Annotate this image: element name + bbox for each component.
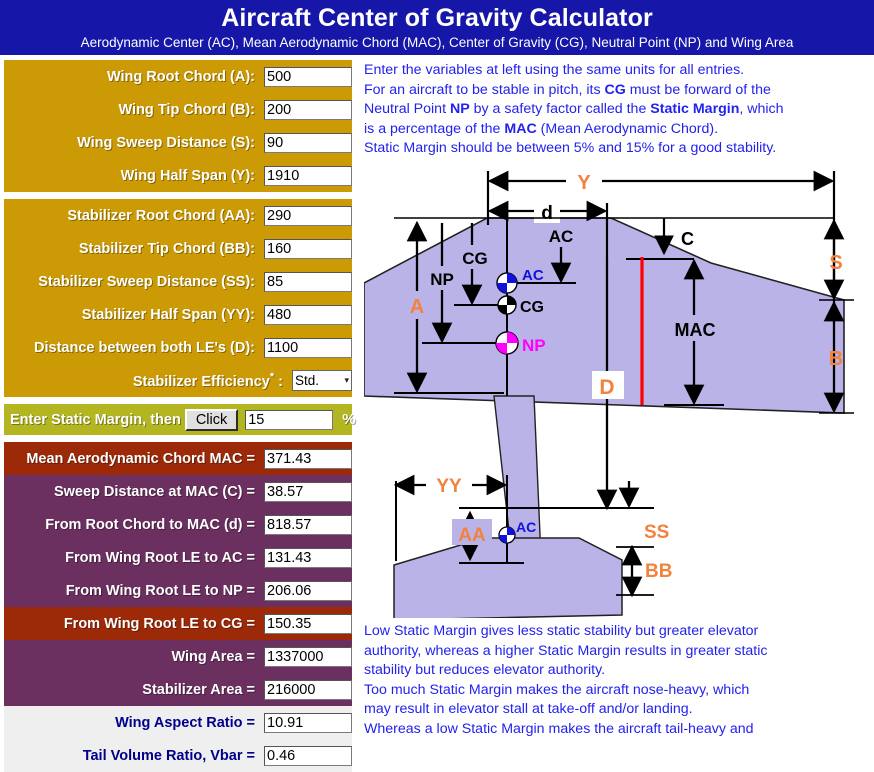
label-mac: Mean Aerodynamic Chord MAC = xyxy=(4,451,264,467)
results-group-purple-1: Sweep Distance at MAC (C) = From Root Ch… xyxy=(4,475,352,607)
bottom-line-6: Whereas a low Static Margin makes the ai… xyxy=(364,720,870,740)
input-row-wing-root-chord: Wing Root Chord (A): xyxy=(4,60,352,93)
input-row-stabilizer-efficiency: Stabilizer Efficiency* : Std. ▾ xyxy=(4,364,352,397)
calculator-page: Aircraft Center of Gravity Calculator Ae… xyxy=(0,0,874,768)
static-margin-section: Enter Static Margin, then Click % xyxy=(4,404,352,435)
result-row-aspect-ratio: Wing Aspect Ratio = xyxy=(4,706,352,739)
label-stab-half-span: Stabilizer Half Span (YY): xyxy=(4,307,264,323)
label-stab-tip-chord: Stabilizer Tip Chord (BB): xyxy=(4,241,264,257)
output-le-to-ac[interactable] xyxy=(264,548,352,568)
result-row-stabilizer-area: Stabilizer Area = xyxy=(4,673,352,706)
input-row-stab-root-chord: Stabilizer Root Chord (AA): xyxy=(4,199,352,232)
input-row-wing-sweep-distance: Wing Sweep Distance (S): xyxy=(4,126,352,159)
bottom-line-5: may result in elevator stall at take-off… xyxy=(364,700,870,720)
intro-line-3-static-margin: Static Margin xyxy=(650,101,739,117)
input-row-distance-between-les: Distance between both LE's (D): xyxy=(4,331,352,364)
input-wing-half-span[interactable] xyxy=(264,166,352,186)
label-le-to-np: From Wing Root LE to NP = xyxy=(4,583,264,599)
body-wrap: Wing Root Chord (A): Wing Tip Chord (B):… xyxy=(0,55,874,772)
output-mac[interactable] xyxy=(264,449,352,469)
bottom-line-4: Too much Static Margin makes the aircraf… xyxy=(364,681,870,701)
marker-cg-wing: CG xyxy=(498,296,544,316)
result-row-wing-area: Wing Area = xyxy=(4,640,352,673)
input-row-stab-sweep-distance: Stabilizer Sweep Distance (SS): xyxy=(4,265,352,298)
diagram-label-S: S xyxy=(829,252,842,274)
intro-line-3: Neutral Point NP by a safety factor call… xyxy=(364,100,870,120)
diagram-label-NP-dim: NP xyxy=(430,270,454,289)
intro-line-4a: is a percentage of the xyxy=(364,121,504,137)
intro-line-2c: must be forward of the xyxy=(626,82,771,98)
label-sweep-at-mac: Sweep Distance at MAC (C) = xyxy=(4,484,264,500)
intro-line-5: Static Margin should be between 5% and 1… xyxy=(364,139,870,159)
bottom-paragraph: Low Static Margin gives less static stab… xyxy=(364,618,870,740)
input-row-wing-half-span: Wing Half Span (Y): xyxy=(4,159,352,192)
aircraft-diagram: Y d C A NP xyxy=(364,163,860,618)
input-stab-root-chord[interactable] xyxy=(264,206,352,226)
page-title: Aircraft Center of Gravity Calculator xyxy=(0,0,874,34)
label-le-to-cg: From Wing Root LE to CG = xyxy=(4,616,264,632)
input-row-stab-half-span: Stabilizer Half Span (YY): xyxy=(4,298,352,331)
result-row-sweep-at-mac: Sweep Distance at MAC (C) = xyxy=(4,475,352,508)
label-stabilizer-efficiency-text: Stabilizer Efficiency xyxy=(133,374,270,390)
intro-line-2-cg: CG xyxy=(605,82,626,98)
output-le-to-np[interactable] xyxy=(264,581,352,601)
page-subtitle: Aerodynamic Center (AC), Mean Aerodynami… xyxy=(0,34,874,55)
input-static-margin[interactable] xyxy=(245,410,333,430)
diagram-label-AC-dim: AC xyxy=(549,227,574,246)
label-stab-root-chord: Stabilizer Root Chord (AA): xyxy=(4,208,264,224)
static-margin-row: Enter Static Margin, then Click % xyxy=(4,404,352,435)
static-margin-unit: % xyxy=(333,411,355,428)
output-le-to-cg[interactable] xyxy=(264,614,352,634)
diagram-label-CG-dim: CG xyxy=(462,249,488,268)
diagram-label-A: A xyxy=(410,296,424,318)
results-group-plain: Wing Aspect Ratio = Tail Volume Ratio, V… xyxy=(4,706,352,772)
result-row-tail-volume-ratio: Tail Volume Ratio, Vbar = xyxy=(4,739,352,772)
diagram-label-C: C xyxy=(681,229,694,249)
output-wing-area[interactable] xyxy=(264,647,352,667)
wing-inputs-section: Wing Root Chord (A): Wing Tip Chord (B):… xyxy=(4,60,352,192)
label-colon: : xyxy=(278,374,283,390)
bottom-line-2: authority, whereas a higher Static Margi… xyxy=(364,642,870,662)
input-wing-sweep-distance[interactable] xyxy=(264,133,352,153)
label-aspect-ratio: Wing Aspect Ratio = xyxy=(4,715,264,731)
intro-line-4c: (Mean Aerodynamic Chord). xyxy=(537,121,718,137)
intro-line-3a: Neutral Point xyxy=(364,101,450,117)
diagram-label-B: B xyxy=(829,348,843,370)
right-column: Enter the variables at left using the sa… xyxy=(356,55,874,740)
label-stabilizer-area: Stabilizer Area = xyxy=(4,682,264,698)
calculate-button[interactable]: Click xyxy=(185,409,238,431)
label-wing-sweep-distance: Wing Sweep Distance (S): xyxy=(4,135,264,151)
marker-label-np: NP xyxy=(522,336,546,355)
label-tail-volume-ratio: Tail Volume Ratio, Vbar = xyxy=(4,748,264,764)
label-wing-tip-chord: Wing Tip Chord (B): xyxy=(4,102,264,118)
intro-line-4-mac: MAC xyxy=(504,121,536,137)
intro-line-3-np: NP xyxy=(450,101,470,117)
intro-line-4: is a percentage of the MAC (Mean Aerodyn… xyxy=(364,120,870,140)
label-wing-root-chord: Wing Root Chord (A): xyxy=(4,69,264,85)
output-root-to-mac[interactable] xyxy=(264,515,352,535)
label-wing-half-span: Wing Half Span (Y): xyxy=(4,168,264,184)
select-stabilizer-efficiency-value: Std. xyxy=(295,373,319,388)
page-header: Aircraft Center of Gravity Calculator Ae… xyxy=(0,0,874,55)
bottom-line-1: Low Static Margin gives less static stab… xyxy=(364,622,870,642)
intro-line-1: Enter the variables at left using the sa… xyxy=(364,61,870,81)
input-stab-sweep-distance[interactable] xyxy=(264,272,352,292)
input-row-stab-tip-chord: Stabilizer Tip Chord (BB): xyxy=(4,232,352,265)
label-distance-between-les: Distance between both LE's (D): xyxy=(4,340,264,356)
output-stabilizer-area[interactable] xyxy=(264,680,352,700)
left-column: Wing Root Chord (A): Wing Tip Chord (B):… xyxy=(0,55,356,772)
footnote-asterisk: * xyxy=(270,371,274,383)
input-row-wing-tip-chord: Wing Tip Chord (B): xyxy=(4,93,352,126)
diagram-label-SS: SS xyxy=(644,522,669,543)
result-row-le-to-np: From Wing Root LE to NP = xyxy=(4,574,352,607)
label-stabilizer-efficiency: Stabilizer Efficiency* : xyxy=(4,371,292,390)
diagram-label-D: D xyxy=(599,376,614,399)
result-row-le-to-cg: From Wing Root LE to CG = xyxy=(4,607,352,640)
marker-label-ac: AC xyxy=(522,267,544,284)
input-wing-tip-chord[interactable] xyxy=(264,100,352,120)
result-row-le-to-ac: From Wing Root LE to AC = xyxy=(4,541,352,574)
input-distance-between-les[interactable] xyxy=(264,338,352,358)
diagram-label-YY: YY xyxy=(436,476,462,497)
chevron-down-icon: ▾ xyxy=(340,375,349,386)
result-row-mac: Mean Aerodynamic Chord MAC = xyxy=(4,442,352,475)
input-wing-root-chord[interactable] xyxy=(264,67,352,87)
label-root-to-mac: From Root Chord to MAC (d) = xyxy=(4,517,264,533)
results-group-purple-2: Wing Area = Stabilizer Area = xyxy=(4,640,352,706)
result-row-root-to-mac: From Root Chord to MAC (d) = xyxy=(4,508,352,541)
label-stab-sweep-distance: Stabilizer Sweep Distance (SS): xyxy=(4,274,264,290)
input-stab-tip-chord[interactable] xyxy=(264,239,352,259)
output-aspect-ratio[interactable] xyxy=(264,713,352,733)
section-divider-3 xyxy=(0,435,356,442)
section-divider-1 xyxy=(0,192,356,199)
marker-label-cg: CG xyxy=(520,299,544,316)
intro-line-3c: by a safety factor called the xyxy=(470,101,651,117)
diagram-label-BB: BB xyxy=(645,561,672,582)
output-tail-volume-ratio[interactable] xyxy=(264,746,352,766)
intro-line-2a: For an aircraft to be stable in pitch, i… xyxy=(364,82,605,98)
select-stabilizer-efficiency[interactable]: Std. ▾ xyxy=(292,370,352,391)
input-stab-half-span[interactable] xyxy=(264,305,352,325)
output-sweep-at-mac[interactable] xyxy=(264,482,352,502)
diagram-label-AA: AA xyxy=(458,525,486,546)
label-le-to-ac: From Wing Root LE to AC = xyxy=(4,550,264,566)
intro-line-2: For an aircraft to be stable in pitch, i… xyxy=(364,81,870,101)
label-enter-static-margin: Enter Static Margin, then xyxy=(4,412,181,428)
label-wing-area: Wing Area = xyxy=(4,649,264,665)
section-divider-2 xyxy=(0,397,356,404)
diagram-label-MAC: MAC xyxy=(675,320,716,340)
intro-line-3e: , which xyxy=(739,101,783,117)
stabilizer-inputs-section: Stabilizer Root Chord (AA): Stabilizer T… xyxy=(4,199,352,397)
diagram-label-d: d xyxy=(541,203,553,224)
bottom-line-3: stability but reduces elevator authority… xyxy=(364,661,870,681)
marker-label-ac-stab: AC xyxy=(516,519,536,535)
diagram-label-Y: Y xyxy=(577,172,591,194)
intro-paragraph: Enter the variables at left using the sa… xyxy=(364,61,870,159)
